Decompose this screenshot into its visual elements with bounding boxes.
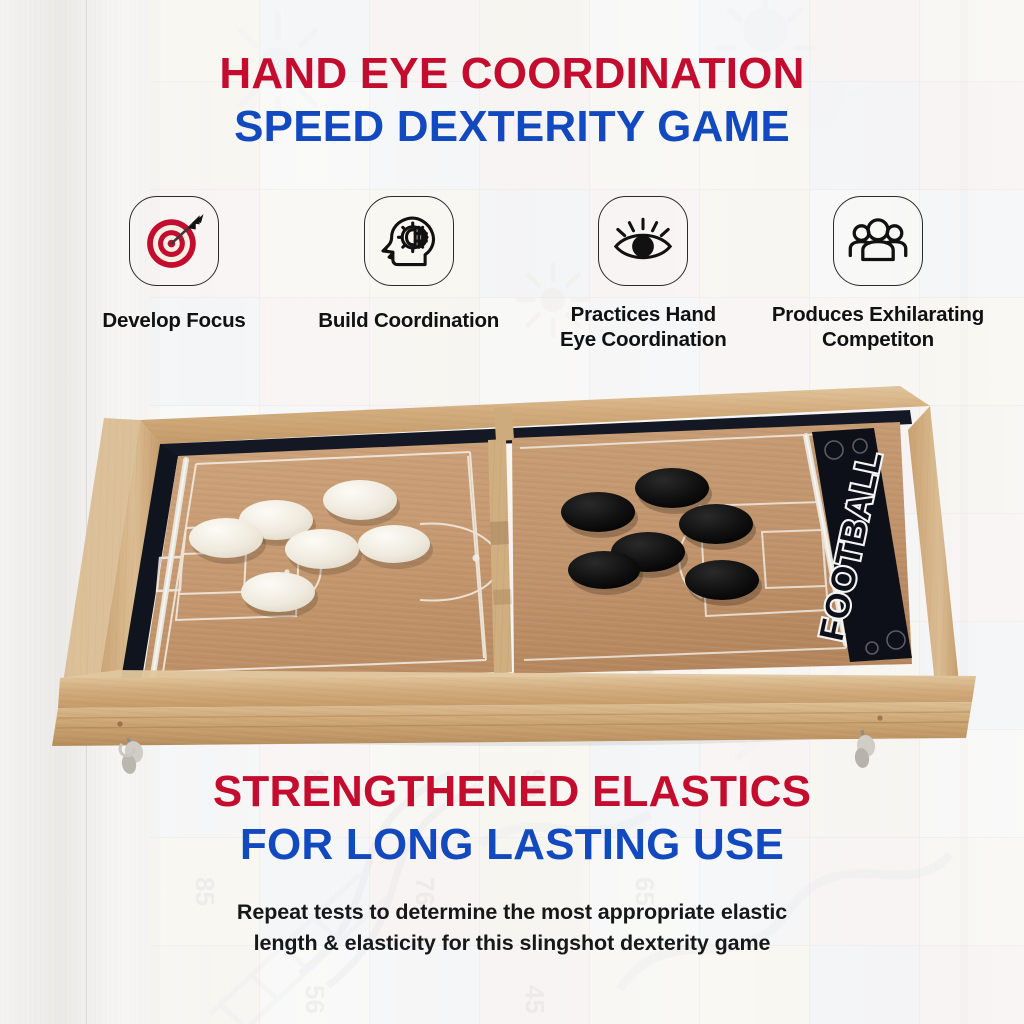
people-group-icon	[845, 208, 911, 274]
body-copy-line1: Repeat tests to determine the most appro…	[0, 897, 1024, 928]
brain-head-gear-icon	[378, 210, 440, 272]
feature-label: Build Coordination	[318, 308, 499, 333]
puck-black	[685, 560, 759, 600]
puck-black	[561, 492, 635, 532]
feature-label: Produces Exhilarating Competiton	[772, 302, 984, 352]
feature-icon-card	[598, 196, 688, 286]
body-copy-line2: length & elasticity for this slingshot d…	[0, 928, 1024, 959]
feature-develop-focus: Develop Focus	[58, 196, 290, 333]
puck-white	[323, 480, 397, 520]
body-copy: Repeat tests to determine the most appro…	[0, 897, 1024, 958]
product-photo-sling-puck-board: FOOTBALL	[0, 372, 1024, 792]
bottom-headline: STRENGTHENED ELASTICS FOR LONG LASTING U…	[0, 770, 1024, 868]
puck-white	[358, 525, 430, 563]
feature-practices-hand-eye-coordination: Practices Hand Eye Coordination	[527, 196, 759, 352]
bottom-headline-line2: FOR LONG LASTING USE	[0, 823, 1024, 868]
puck-black	[568, 551, 640, 589]
top-headline-line1: HAND EYE COORDINATION	[0, 52, 1024, 97]
puck-white	[285, 529, 359, 569]
feature-label: Develop Focus	[102, 308, 245, 333]
feature-label: Practices Hand Eye Coordination	[560, 302, 727, 352]
infographic-canvas: 94879586968576655645	[0, 0, 1024, 1024]
feature-build-coordination: Build Coordination	[293, 196, 525, 333]
feature-icon-card	[833, 196, 923, 286]
puck-black	[679, 504, 753, 544]
top-headline: HAND EYE COORDINATION SPEED DEXTERITY GA…	[0, 52, 1024, 150]
bottom-headline-line1: STRENGTHENED ELASTICS	[0, 770, 1024, 815]
feature-icon-card	[129, 196, 219, 286]
puck-black	[635, 468, 709, 508]
eye-icon	[609, 207, 677, 275]
feature-produces-exhilarating-competition: Produces Exhilarating Competiton	[762, 196, 994, 352]
feature-benefits-row: Develop Focus Build Coord	[58, 196, 994, 386]
feature-icon-card	[364, 196, 454, 286]
top-headline-line2: SPEED DEXTERITY GAME	[0, 105, 1024, 150]
puck-white	[189, 518, 263, 558]
puck-white	[241, 572, 315, 612]
target-dartboard-icon	[142, 209, 206, 273]
